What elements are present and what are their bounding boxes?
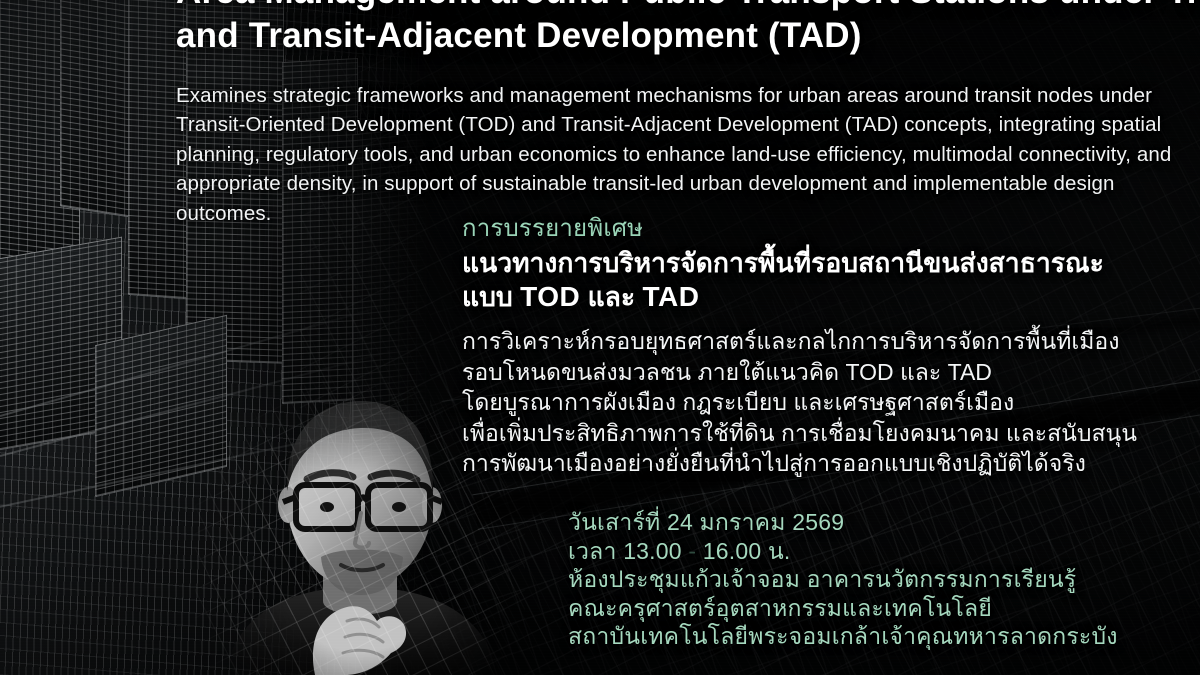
thai-heading-line-2: แบบ TOD และ TAD [462,280,1182,314]
thai-heading-line-1: แนวทางการบริหารจัดการพื้นที่รอบสถานีขนส่… [462,247,1182,280]
thai-description: การวิเคราะห์กรอบยุทธศาสตร์และกลไกการบริห… [462,326,1182,479]
seminar-poster: Area Management around Public Transport … [0,0,1200,675]
event-time-start: 13.00 [623,538,682,564]
event-time-dash: - [688,538,696,564]
thai-kicker: การบรรยายพิเศษ [462,214,1182,244]
thai-heading-prefix: แบบ [462,282,513,312]
event-institute: สถาบันเทคโนโลยีพระจอมเกล้าเจ้าคุณทหารลาด… [568,622,1188,651]
thai-heading-conjunction: และ [588,282,636,312]
event-faculty: คณะครุศาสตร์อุตสาหกรรมและเทคโนโลยี [568,594,1188,623]
tod-label: TOD [520,281,580,312]
event-date: วันเสาร์ที่ 24 มกราคม 2569 [568,508,1188,537]
abstract-english: Examines strategic frameworks and manage… [176,81,1181,229]
title-line-2: and Transit-Adjacent Development (TAD) [176,14,1186,58]
event-details: วันเสาร์ที่ 24 มกราคม 2569 เวลา 13.00 - … [568,508,1188,651]
thai-heading: แนวทางการบริหารจัดการพื้นที่รอบสถานีขนส่… [462,247,1182,314]
thai-desc-line-4: เพื่อเพิ่มประสิทธิภาพการใช้ที่ดิน การเชื… [462,418,1182,449]
tad-label: TAD [643,281,700,312]
event-time: เวลา 13.00 - 16.00 น. [568,537,1188,566]
thai-desc-line-1: การวิเคราะห์กรอบยุทธศาสตร์และกลไกการบริห… [462,326,1182,357]
thai-desc-line-5: การพัฒนาเมืองอย่างยั่งยืนที่นำไปสู่การออ… [462,448,1182,479]
thai-section: การบรรยายพิเศษ แนวทางการบริหารจัดการพื้น… [462,214,1182,479]
event-time-label: เวลา [568,538,617,564]
thai-desc-line-3: โดยบูรณาการผังเมือง กฎระเบียบ และเศรษฐศา… [462,387,1182,418]
poster-title-english: Area Management around Public Transport … [176,0,1186,58]
event-venue: ห้องประชุมแก้วเจ้าจอม อาคารนวัตกรรมการเร… [568,565,1188,594]
event-time-end: 16.00 น. [703,538,791,564]
title-line-1: Area Management around Public Transport … [176,0,1186,14]
poster-content: Area Management around Public Transport … [0,0,1200,675]
thai-desc-line-2: รอบโหนดขนส่งมวลชน ภายใต้แนวคิด TOD และ T… [462,357,1182,388]
